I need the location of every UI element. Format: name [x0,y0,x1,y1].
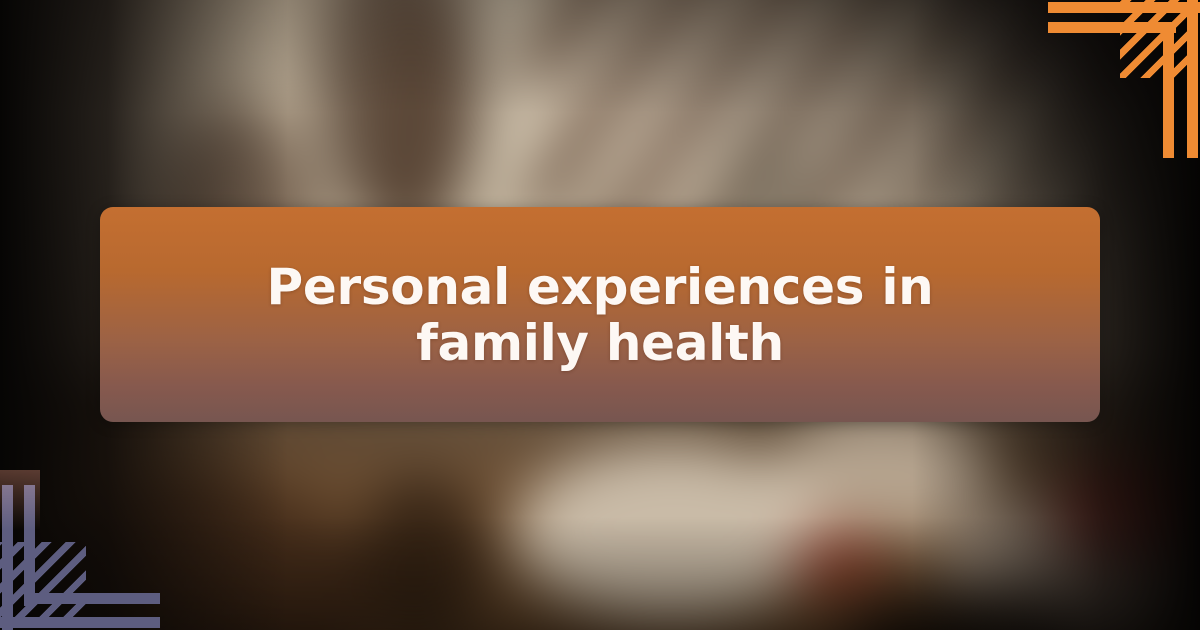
page-title-line-2: family health [416,314,784,372]
page-title-line-1: Personal experiences in [267,258,934,316]
title-card: Personal experiences infamily health [100,207,1100,422]
slide-canvas: Personal experiences infamily health [0,0,1200,630]
page-title: Personal experiences infamily health [220,259,980,371]
